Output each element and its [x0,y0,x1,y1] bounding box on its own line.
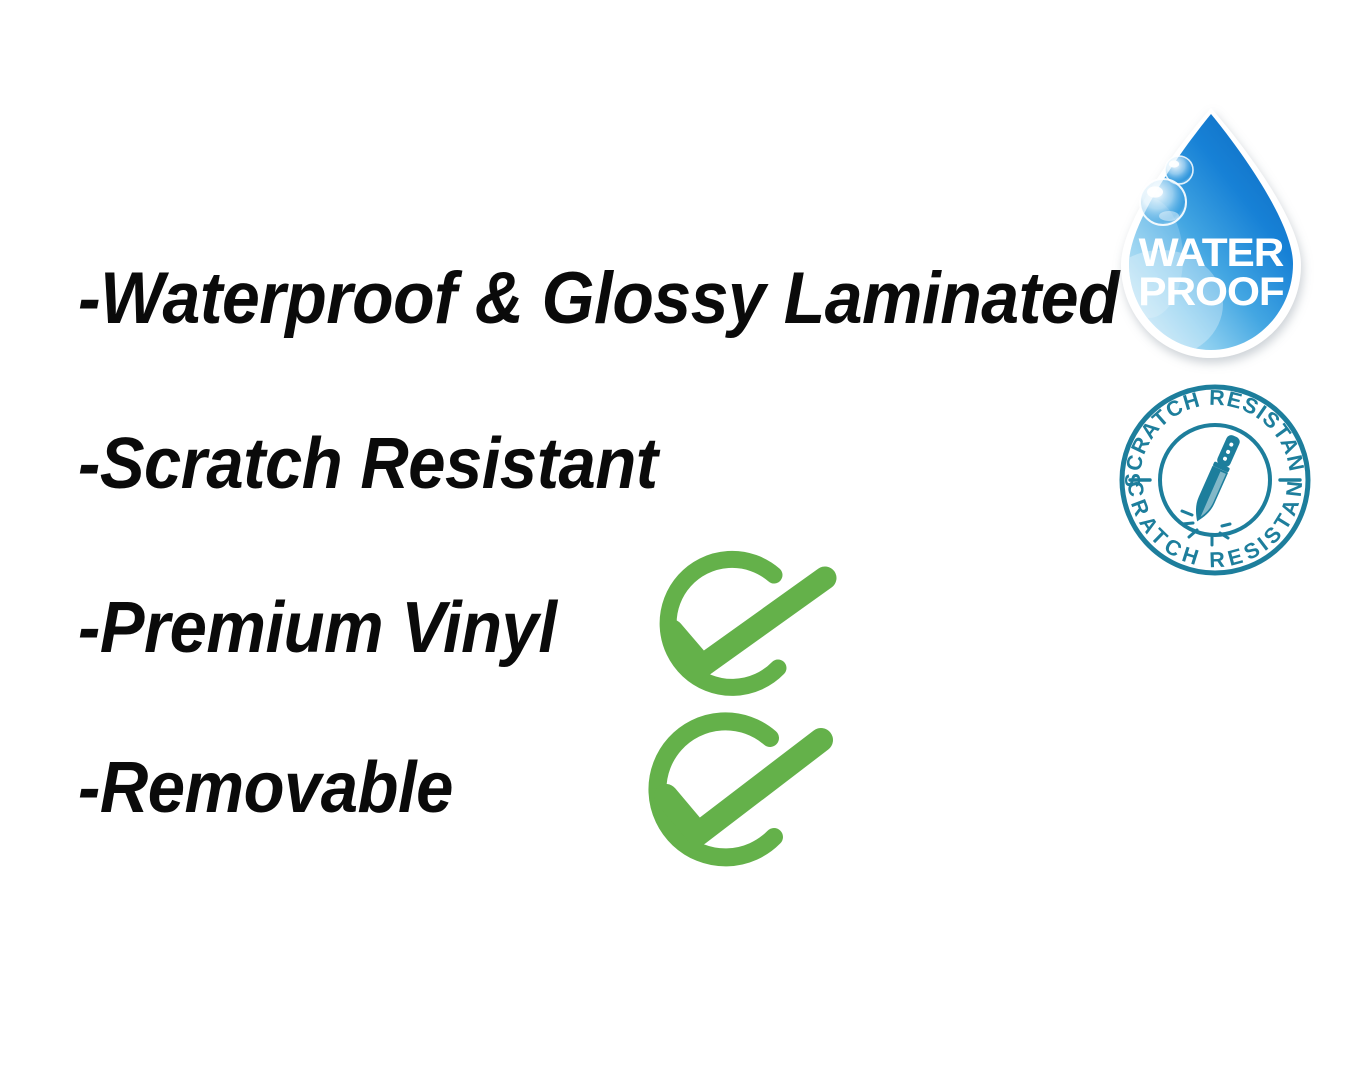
product-feature-graphic: -Waterproof & Glossy Laminated -Scratch … [0,0,1359,1080]
waterproof-badge: WATER PROOF [1105,108,1317,360]
water-bubble-large-icon [1140,179,1186,225]
feature-item-premium-vinyl: -Premium Vinyl [78,592,556,664]
feature-item-removable: -Removable [78,752,453,824]
knife-icon [1189,433,1242,525]
check-badge-removable [630,716,832,883]
feature-item-scratch-resistant: -Scratch Resistant [78,428,658,500]
check-stroke [666,740,821,834]
feature-list: -Waterproof & Glossy Laminated -Scratch … [0,0,1100,1080]
green-check-circle-icon [636,556,836,711]
green-check-circle-icon [630,716,832,883]
scratch-resistant-stamp-icon: SCRATCH RESISTANT SCRATCH RESISTANT [1118,384,1312,576]
check-stroke [672,578,825,666]
feature-item-waterproof-glossy-laminated: -Waterproof & Glossy Laminated [78,262,1119,335]
water-drop-icon [1105,108,1317,360]
scratch-resistant-badge: SCRATCH RESISTANT SCRATCH RESISTANT [1118,384,1312,576]
check-badge-premium-vinyl [636,556,836,711]
